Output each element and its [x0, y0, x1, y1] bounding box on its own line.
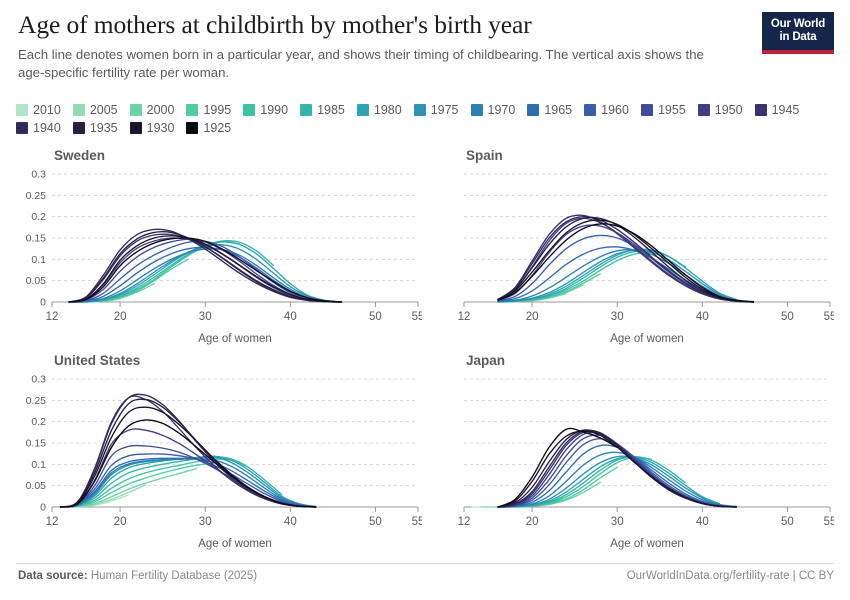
x-tick-label: 55: [412, 516, 422, 528]
x-tick-label: 50: [369, 311, 382, 323]
legend-swatch-1985: [300, 104, 312, 116]
owid-logo-text: Our World in Data: [771, 18, 825, 44]
y-tick-label: 0: [40, 502, 46, 514]
legend-swatch-2005: [73, 104, 85, 116]
x-tick-label: 40: [284, 516, 297, 528]
x-tick-label: 40: [696, 516, 709, 528]
y-tick-label: 0.25: [26, 190, 47, 202]
y-tick-label: 0.1: [31, 254, 46, 266]
panel-title-japan: Japan: [466, 353, 505, 368]
legend-item-1945[interactable]: 1945: [755, 101, 800, 119]
y-tick-label: 0.2: [31, 211, 46, 223]
y-tick-label: 0.05: [26, 480, 47, 492]
panel-title-spain: Spain: [466, 148, 503, 163]
legend-item-1955[interactable]: 1955: [641, 101, 686, 119]
y-tick-label: 0.15: [26, 438, 47, 450]
legend-item-1930[interactable]: 1930: [130, 119, 175, 137]
y-tick-label: 0.2: [31, 416, 46, 428]
y-tick-label: 0.3: [31, 374, 46, 386]
legend-label-1935: 1935: [90, 121, 118, 135]
legend-swatch-1930: [130, 122, 142, 134]
legend-item-1970[interactable]: 1970: [471, 101, 516, 119]
x-tick-label: 55: [824, 311, 834, 323]
legend-item-1950[interactable]: 1950: [698, 101, 743, 119]
legend-label-1960: 1960: [601, 103, 629, 117]
x-tick-label: 12: [46, 311, 59, 323]
legend-item-1960[interactable]: 1960: [584, 101, 629, 119]
legend-label-1985: 1985: [317, 103, 345, 117]
chart-legend[interactable]: 2010200520001995199019851980197519701965…: [16, 101, 816, 137]
legend-label-2010: 2010: [33, 103, 61, 117]
series-line-1990[interactable]: [498, 253, 651, 302]
legend-label-1970: 1970: [488, 103, 516, 117]
y-tick-label: 0.1: [31, 459, 46, 471]
plot-united-states: 00.050.10.150.20.250.3122030405055Age of…: [16, 353, 422, 553]
legend-item-1925[interactable]: 1925: [186, 119, 231, 137]
legend-swatch-1965: [527, 104, 539, 116]
legend-swatch-1995: [186, 104, 198, 116]
panel-japan: Japan122030405055Age of women: [428, 353, 834, 553]
legend-label-1965: 1965: [544, 103, 572, 117]
panel-sweden: Sweden00.050.10.150.20.250.3122030405055…: [16, 148, 422, 348]
footer-source: Data source: Human Fertility Database (2…: [18, 570, 257, 582]
legend-item-1985[interactable]: 1985: [300, 101, 345, 119]
legend-item-1940[interactable]: 1940: [16, 119, 61, 137]
plot-japan: 122030405055Age of women: [428, 353, 834, 553]
legend-swatch-1955: [641, 104, 653, 116]
legend-item-1965[interactable]: 1965: [527, 101, 572, 119]
x-tick-label: 40: [696, 311, 709, 323]
legend-label-1930: 1930: [147, 121, 175, 135]
legend-label-2000: 2000: [147, 103, 175, 117]
x-tick-label: 55: [824, 516, 834, 528]
legend-swatch-1945: [755, 104, 767, 116]
chart-page: Age of mothers at childbirth by mother's…: [0, 0, 850, 600]
legend-item-1975[interactable]: 1975: [414, 101, 459, 119]
owid-logo-line2: in Data: [780, 31, 817, 43]
y-tick-label: 0.3: [31, 169, 46, 181]
legend-swatch-1975: [414, 104, 426, 116]
x-tick-label: 40: [284, 311, 297, 323]
legend-swatch-1980: [357, 104, 369, 116]
y-tick-label: 0.25: [26, 395, 47, 407]
panel-spain: Spain122030405055Age of women: [428, 148, 834, 348]
x-tick-label: 50: [369, 516, 382, 528]
legend-swatch-1950: [698, 104, 710, 116]
legend-item-1995[interactable]: 1995: [186, 101, 231, 119]
legend-label-1995: 1995: [203, 103, 231, 117]
legend-label-1990: 1990: [260, 103, 288, 117]
legend-item-2000[interactable]: 2000: [130, 101, 175, 119]
legend-label-1950: 1950: [715, 103, 743, 117]
panel-title-united-states: United States: [54, 353, 140, 368]
chart-subtitle: Each line denotes women born in a partic…: [18, 46, 718, 81]
legend-item-2010[interactable]: 2010: [16, 101, 61, 119]
legend-label-1975: 1975: [431, 103, 459, 117]
panel-united-states: United States00.050.10.150.20.250.312203…: [16, 353, 422, 553]
x-tick-label: 55: [412, 311, 422, 323]
x-tick-label: 50: [781, 516, 794, 528]
plot-sweden: 00.050.10.150.20.250.3122030405055Age of…: [16, 148, 422, 348]
x-axis-label: Age of women: [610, 538, 684, 550]
x-tick-label: 20: [114, 516, 127, 528]
y-tick-label: 0: [40, 297, 46, 309]
x-axis-label: Age of women: [198, 538, 272, 550]
x-tick-label: 20: [526, 516, 539, 528]
legend-label-1925: 1925: [203, 121, 231, 135]
x-axis-label: Age of women: [610, 333, 684, 345]
legend-label-1955: 1955: [658, 103, 686, 117]
y-tick-label: 0.15: [26, 233, 47, 245]
series-line-1990[interactable]: [498, 457, 651, 507]
footer-attribution[interactable]: OurWorldInData.org/fertility-rate | CC B…: [627, 570, 834, 582]
legend-swatch-1970: [471, 104, 483, 116]
legend-label-1980: 1980: [374, 103, 402, 117]
page-title: Age of mothers at childbirth by mother's…: [18, 10, 758, 40]
x-tick-label: 30: [199, 516, 212, 528]
x-tick-label: 50: [781, 311, 794, 323]
x-tick-label: 20: [114, 311, 127, 323]
legend-item-1935[interactable]: 1935: [73, 119, 118, 137]
footer-source-value: Human Fertility Database (2025): [91, 570, 257, 582]
legend-swatch-2000: [130, 104, 142, 116]
y-tick-label: 0.05: [26, 275, 47, 287]
owid-logo[interactable]: Our World in Data: [762, 12, 834, 54]
x-tick-label: 30: [611, 311, 624, 323]
plot-spain: 122030405055Age of women: [428, 148, 834, 348]
legend-swatch-2010: [16, 104, 28, 116]
legend-label-1940: 1940: [33, 121, 61, 135]
x-tick-label: 12: [46, 516, 59, 528]
legend-item-1990[interactable]: 1990: [243, 101, 288, 119]
legend-item-1980[interactable]: 1980: [357, 101, 402, 119]
legend-swatch-1990: [243, 104, 255, 116]
panel-title-sweden: Sweden: [54, 148, 105, 163]
x-tick-label: 12: [458, 311, 471, 323]
footer-divider: [16, 563, 834, 564]
footer-source-label: Data source:: [18, 570, 88, 582]
legend-item-2005[interactable]: 2005: [73, 101, 118, 119]
x-tick-label: 12: [458, 516, 471, 528]
x-axis-label: Age of women: [198, 333, 272, 345]
owid-logo-line1: Our World: [771, 18, 825, 30]
x-tick-label: 20: [526, 311, 539, 323]
x-tick-label: 30: [611, 516, 624, 528]
legend-swatch-1925: [186, 122, 198, 134]
legend-swatch-1935: [73, 122, 85, 134]
x-tick-label: 30: [199, 311, 212, 323]
legend-swatch-1960: [584, 104, 596, 116]
legend-swatch-1940: [16, 122, 28, 134]
chart-header: Age of mothers at childbirth by mother's…: [18, 10, 758, 81]
legend-label-2005: 2005: [90, 103, 118, 117]
legend-label-1945: 1945: [772, 103, 800, 117]
